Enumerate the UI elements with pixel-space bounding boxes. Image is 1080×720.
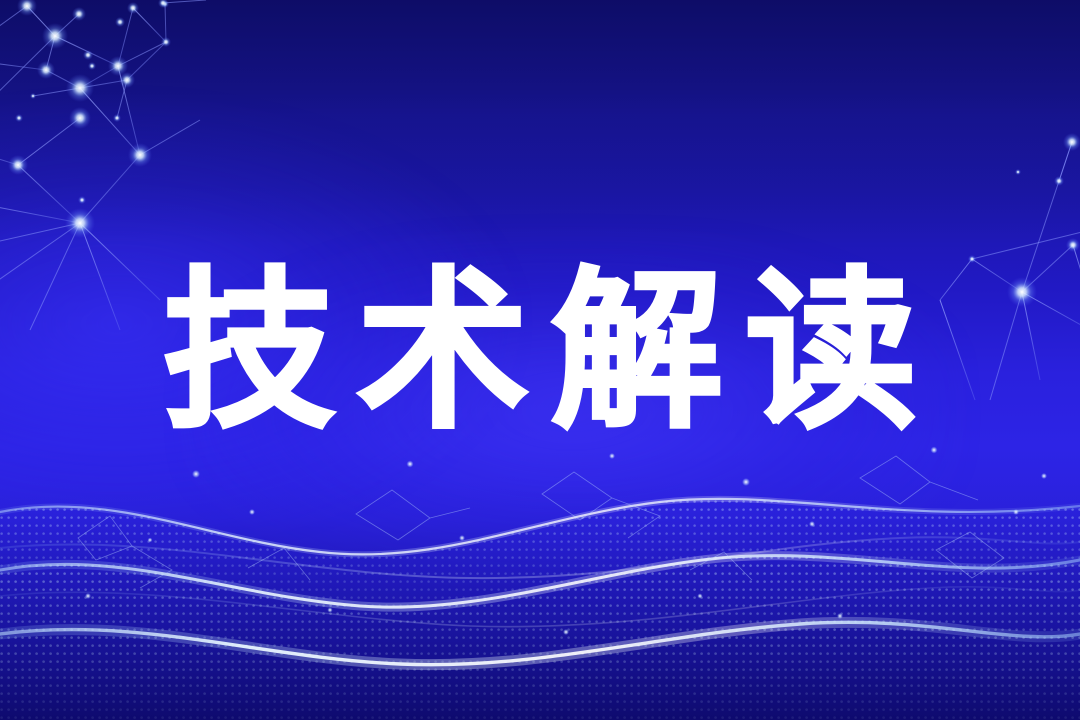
banner-headline: 技术解读: [141, 266, 939, 438]
headline-container: 技术解读: [0, 246, 1080, 458]
tech-banner: 技术解读: [0, 0, 1080, 720]
particle-wave-decoration: [0, 420, 1080, 720]
